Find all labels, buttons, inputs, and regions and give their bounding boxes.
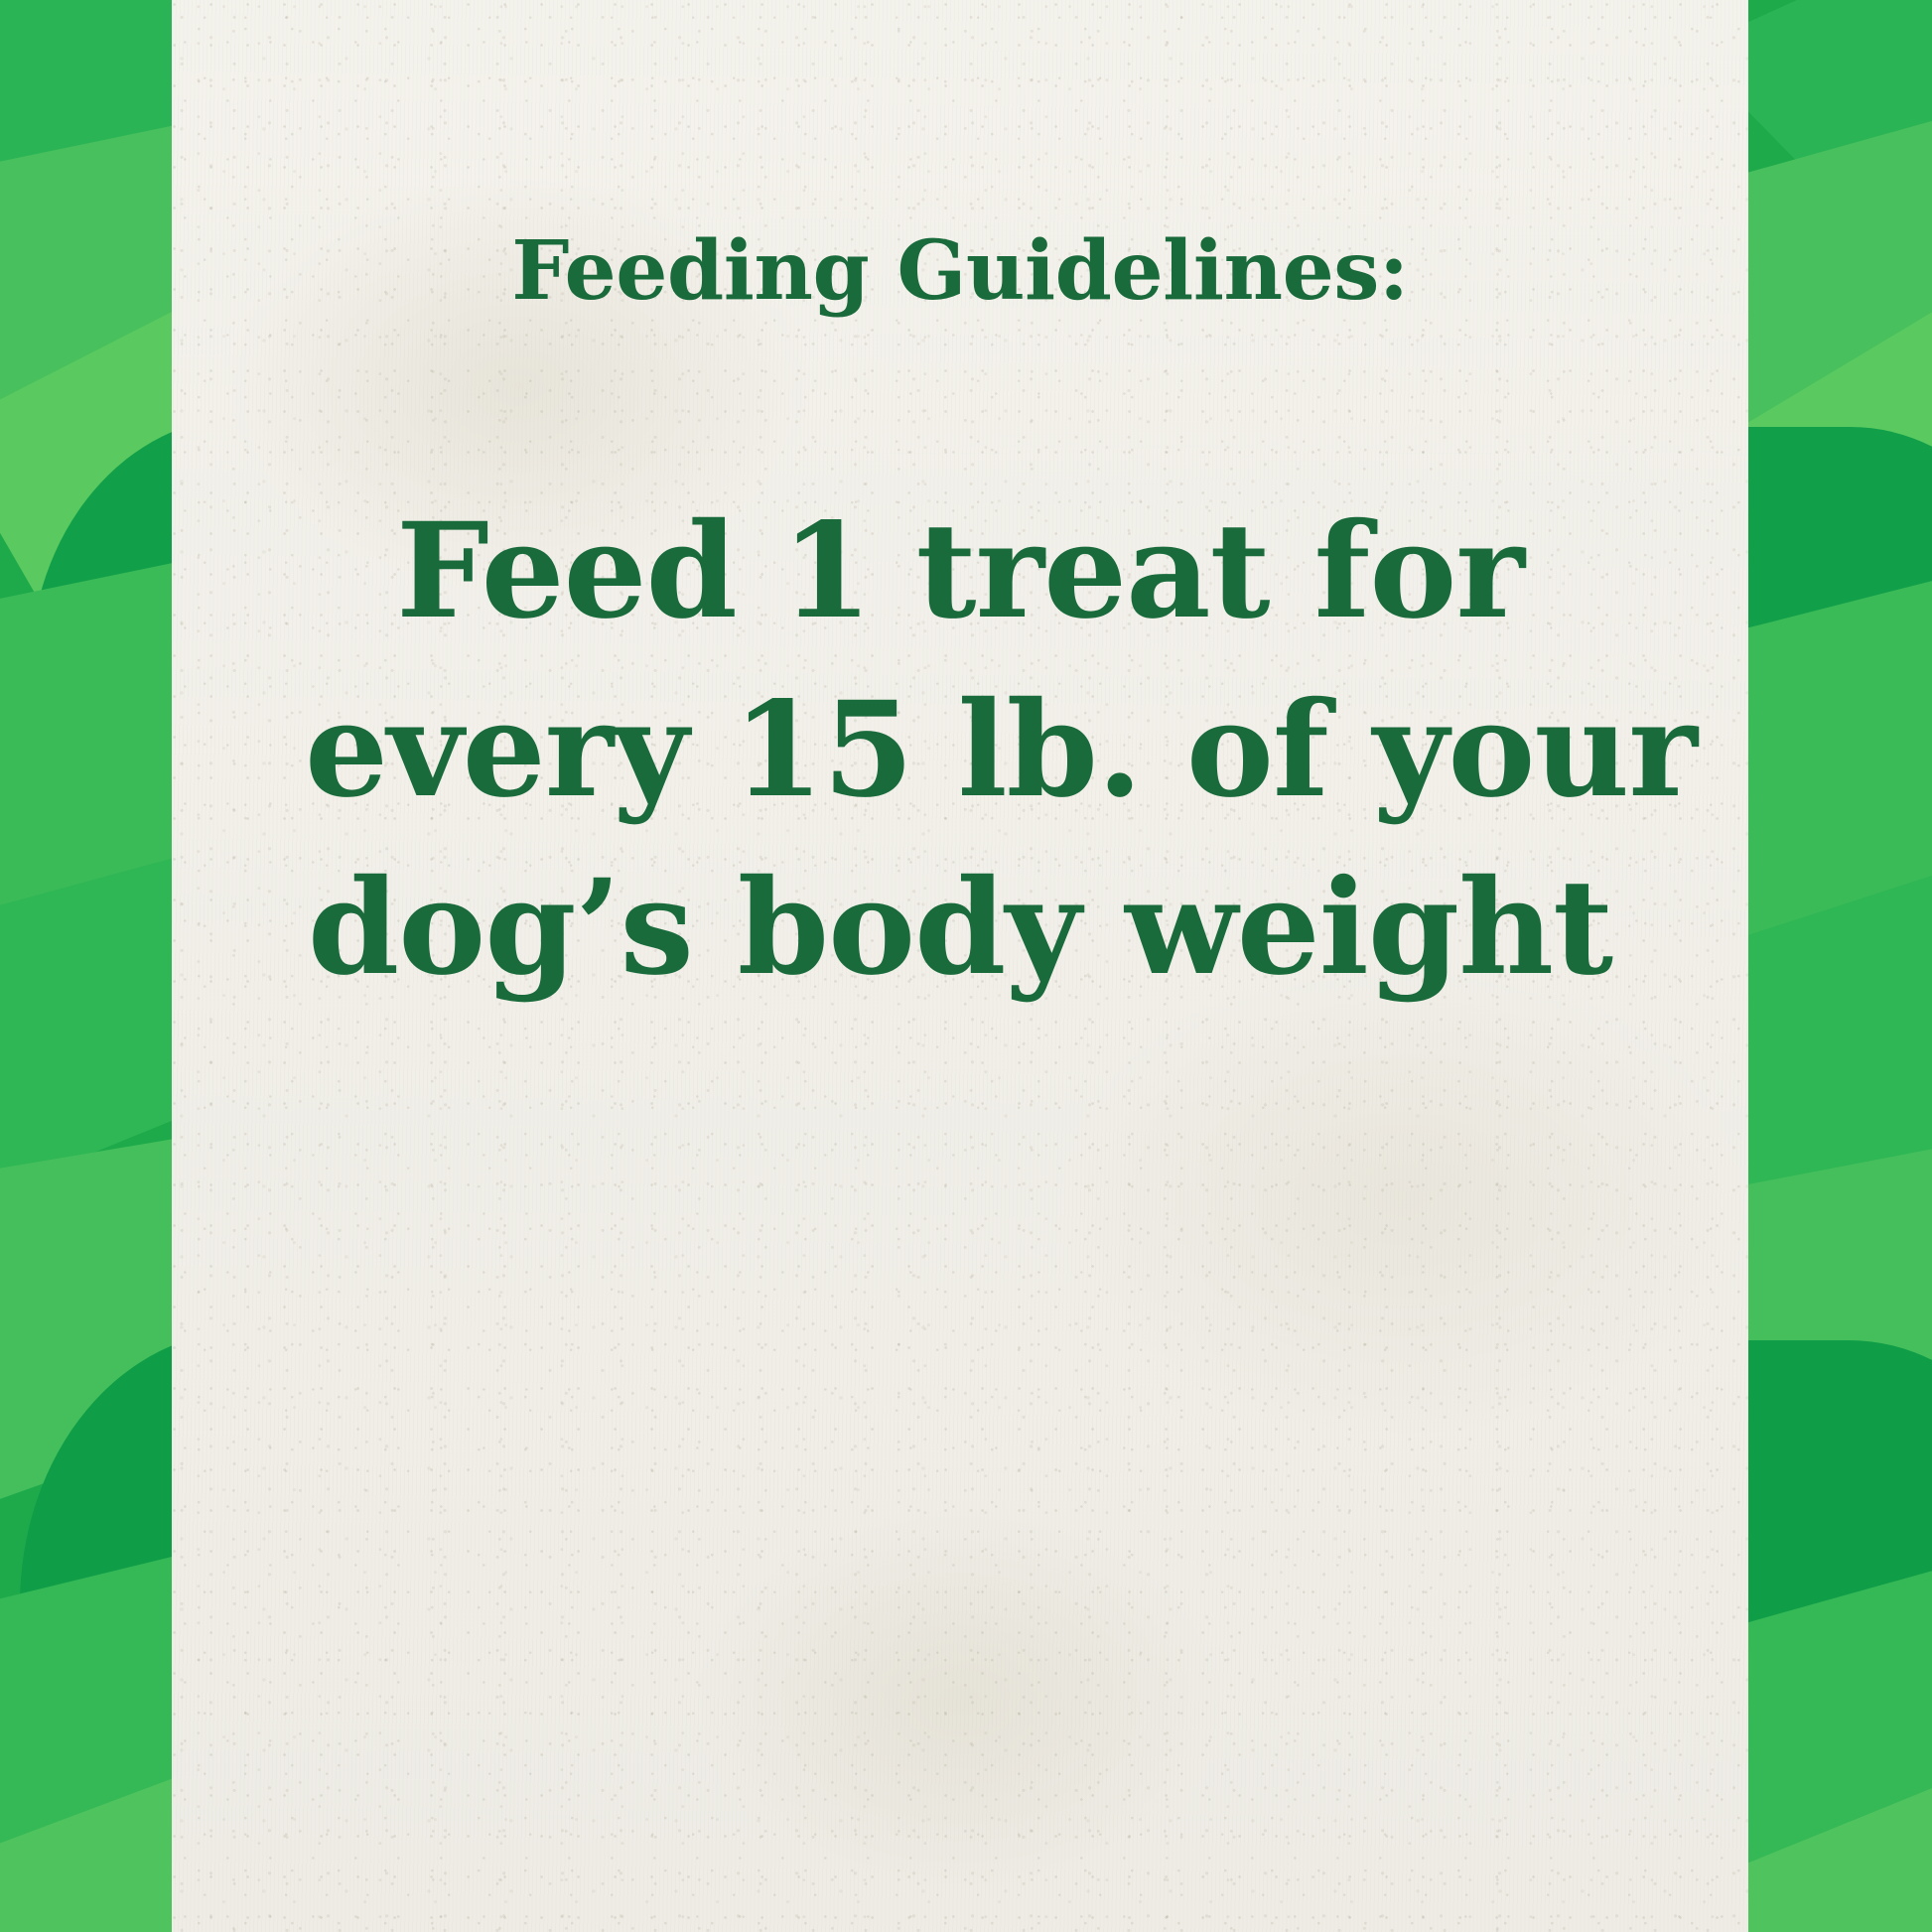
- instruction-line-2: every 15 lb. of your: [305, 661, 1615, 840]
- text-content: Feeding Guidelines: Feed 1 treat for eve…: [172, 0, 1748, 1932]
- left-leaf-pattern-band: [0, 0, 173, 1932]
- feeding-instruction-text: Feed 1 treat for every 15 lb. of your do…: [305, 483, 1615, 1018]
- right-leaf-pattern-band: [1747, 0, 1932, 1932]
- instruction-line-3: dog’s body weight: [305, 839, 1615, 1018]
- feeding-guidelines-panel: Feeding Guidelines: Feed 1 treat for eve…: [0, 0, 1932, 1932]
- feeding-guidelines-heading: Feeding Guidelines:: [511, 230, 1408, 312]
- instruction-line-1: Feed 1 treat for: [305, 483, 1615, 661]
